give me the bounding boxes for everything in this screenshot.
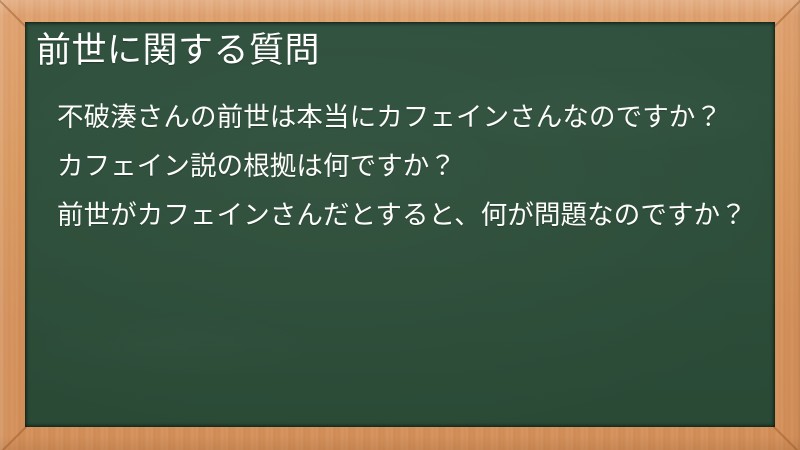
list-item: カフェイン説の根拠は何ですか？: [57, 149, 757, 184]
page-title: 前世に関する質問: [36, 29, 756, 72]
slide-root: 前世に関する質問 不破湊さんの前世は本当にカフェインさんなのですか？ カフェイン…: [0, 0, 800, 450]
list-item: 前世がカフェインさんだとすると、何が問題なのですか？: [57, 198, 757, 233]
blackboard-surface: 前世に関する質問 不破湊さんの前世は本当にカフェインさんなのですか？ カフェイン…: [25, 22, 775, 427]
question-list: 不破湊さんの前世は本当にカフェインさんなのですか？ カフェイン説の根拠は何ですか…: [57, 100, 757, 234]
list-item: 不破湊さんの前世は本当にカフェインさんなのですか？: [57, 100, 757, 135]
